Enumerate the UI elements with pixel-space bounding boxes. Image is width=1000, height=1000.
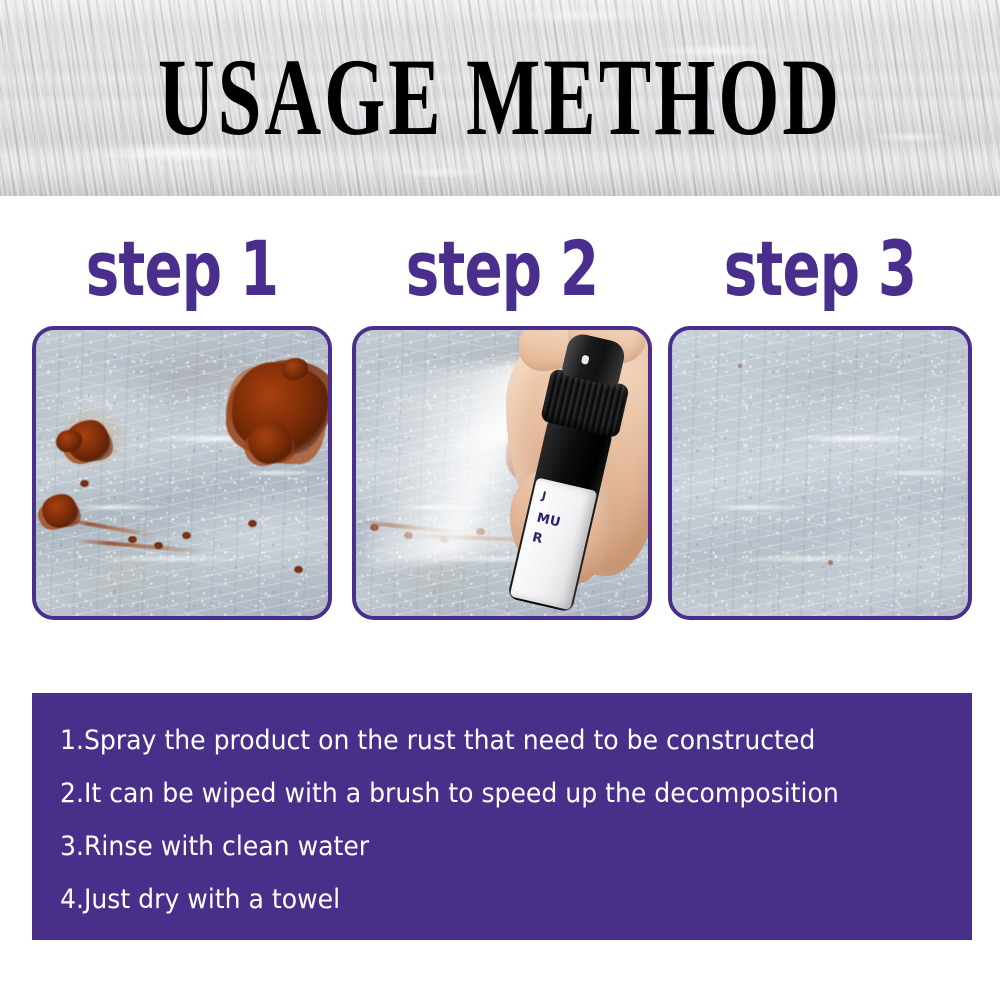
step-item-2: step 2 [352, 196, 652, 620]
rust-patch-large-lower [248, 422, 292, 464]
step-3-label: step 3 [686, 176, 954, 308]
rust-fleck [154, 542, 163, 549]
step-2-photo: J MU R [352, 326, 652, 620]
rust-fleck [440, 536, 449, 543]
instruction-line-1: 1.Spray the product on the rust that nee… [60, 727, 908, 754]
instructions-panel: 1.Spray the product on the rust that nee… [32, 693, 972, 940]
rust-residue-fleck [828, 560, 833, 565]
rust-fleck [80, 480, 89, 487]
metal-white-streaks [672, 330, 968, 616]
nozzle-orifice [581, 355, 590, 365]
step-2-label: step 2 [370, 176, 634, 308]
header-banner: USAGE METHOD [0, 0, 1000, 196]
rust-residue-fleck [738, 364, 742, 368]
bottle-label-line-1: J [541, 489, 596, 514]
rust-fleck [294, 566, 303, 573]
rust-fleck [404, 532, 413, 539]
instruction-line-3: 3.Rinse with clean water [60, 833, 908, 860]
rust-fleck [370, 524, 379, 531]
rust-fleck [476, 528, 485, 535]
step-item-3: step 3 [668, 196, 972, 620]
steps-row: step 1 step 2 [0, 196, 1000, 656]
rust-fleck [182, 532, 191, 539]
page-title: USAGE METHOD [20, 0, 980, 196]
bottle-label: J MU R [510, 477, 598, 610]
instruction-line-2: 2.It can be wiped with a brush to speed … [60, 780, 908, 807]
step-1-photo [32, 326, 332, 620]
rust-fleck [128, 536, 137, 543]
instruction-line-4: 4.Just dry with a towel [60, 886, 908, 913]
step-item-1: step 1 [32, 196, 332, 620]
step-1-label: step 1 [50, 176, 314, 308]
step-3-photo [668, 326, 972, 620]
rust-fleck [248, 520, 257, 527]
